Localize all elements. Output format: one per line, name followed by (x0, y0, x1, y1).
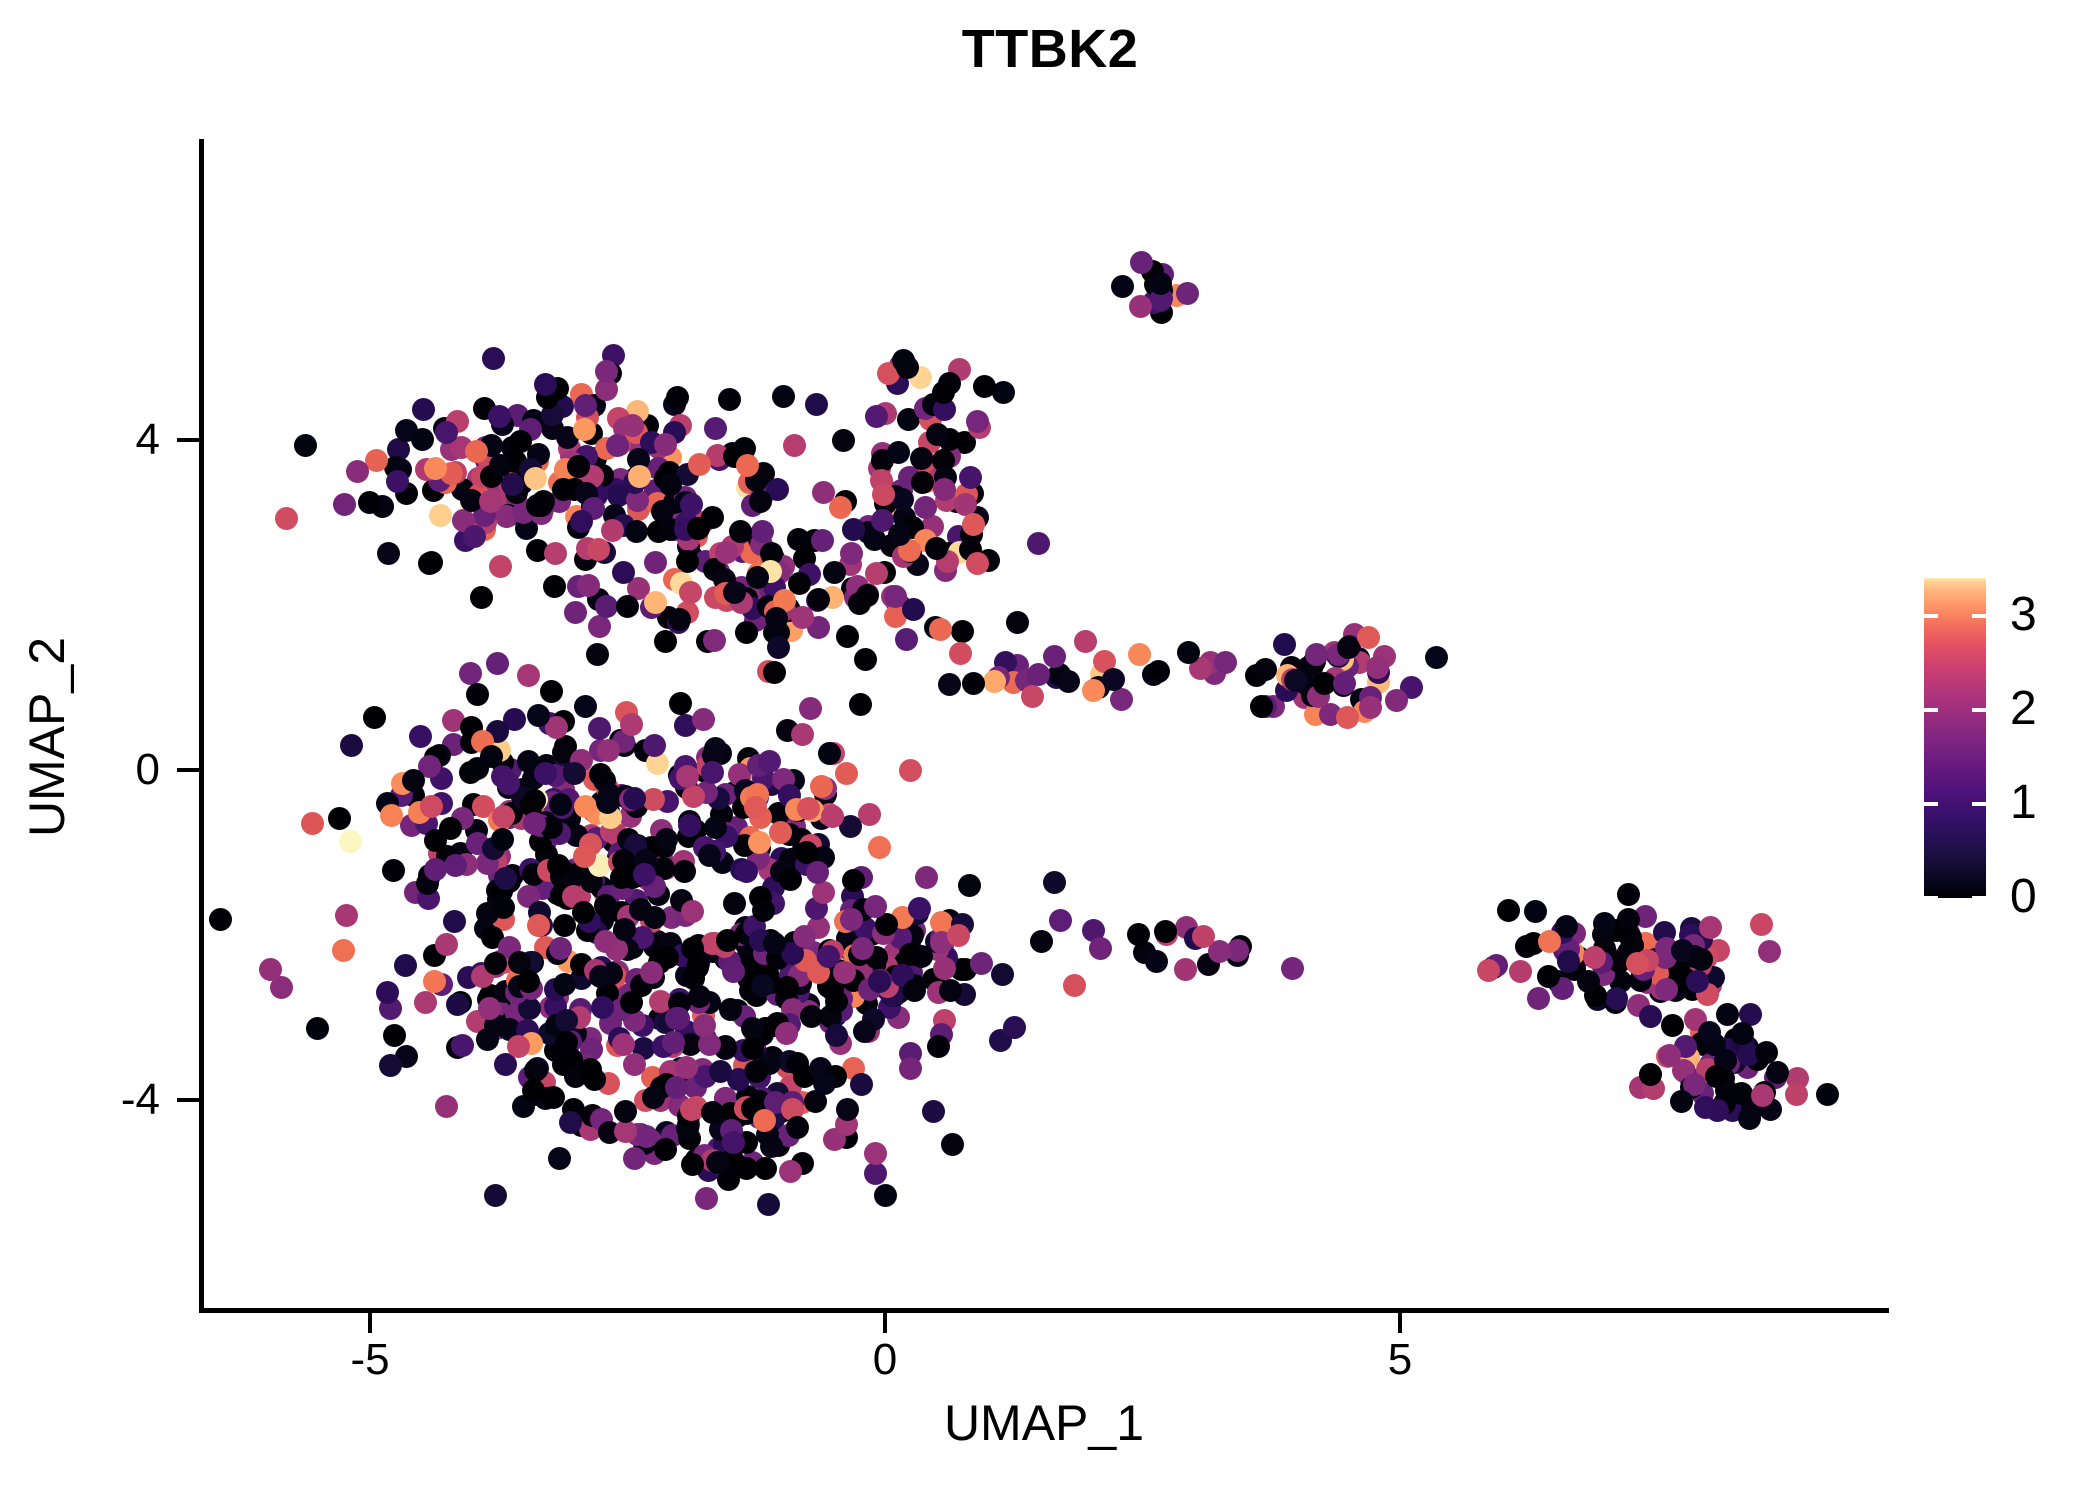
scatter-point (585, 921, 608, 944)
scatter-point (681, 900, 704, 923)
scatter-point (574, 795, 597, 818)
scatter-point (570, 1114, 593, 1137)
scatter-point (1649, 980, 1672, 1003)
scatter-point (654, 630, 677, 653)
scatter-point (613, 918, 636, 941)
scatter-point (1705, 1065, 1728, 1088)
scatter-point (687, 991, 710, 1014)
scatter-point (621, 414, 644, 437)
scatter-point (1629, 1076, 1652, 1099)
scatter-point (744, 1060, 767, 1083)
scatter-point (1324, 667, 1347, 690)
scatter-point (1245, 664, 1268, 687)
scatter-point (770, 847, 793, 870)
scatter-point (777, 597, 800, 620)
scatter-point (588, 854, 611, 877)
scatter-point (620, 713, 643, 736)
scatter-point (1758, 940, 1781, 963)
scatter-point (580, 1038, 603, 1061)
scatter-point (704, 417, 727, 440)
scatter-point (910, 447, 933, 470)
scatter-point (504, 450, 527, 473)
scatter-point (1671, 939, 1694, 962)
scatter-point (738, 471, 761, 494)
scatter-point (839, 553, 862, 576)
scatter-point (667, 510, 690, 533)
scatter-point (569, 861, 592, 884)
scatter-point (560, 444, 583, 467)
scatter-point (663, 568, 686, 591)
scatter-point (451, 478, 474, 501)
scatter-point (589, 965, 612, 988)
scatter-point (703, 840, 726, 863)
scatter-point (627, 577, 650, 600)
scatter-point (563, 478, 586, 501)
scatter-point (693, 1014, 716, 1037)
scatter-point (1150, 279, 1173, 302)
scatter-point (799, 697, 822, 720)
scatter-point (541, 791, 564, 814)
scatter-point (725, 582, 748, 605)
scatter-point (574, 394, 597, 417)
scatter-point (541, 417, 564, 440)
scatter-point (617, 834, 640, 857)
scatter-point (554, 458, 577, 481)
scatter-point (565, 824, 588, 847)
scatter-point (695, 1187, 718, 1210)
scatter-point (640, 431, 663, 454)
scatter-point (735, 1157, 758, 1180)
scatter-point (534, 1087, 557, 1110)
scatter-point (1759, 1098, 1782, 1121)
scatter-point (785, 798, 808, 821)
scatter-point (623, 1147, 646, 1170)
scatter-point (588, 615, 611, 638)
scatter-point (938, 372, 961, 395)
scatter-point (718, 950, 741, 973)
scatter-point (962, 672, 985, 695)
scatter-point (510, 472, 533, 495)
scatter-point (552, 741, 575, 764)
scatter-point (599, 806, 622, 829)
scatter-point (1367, 661, 1390, 684)
scatter-point (676, 463, 699, 486)
scatter-point (488, 864, 511, 887)
scatter-point (734, 779, 757, 802)
scatter-point (553, 973, 576, 996)
scatter-point (677, 1113, 700, 1136)
y-tick-mark (177, 1098, 199, 1102)
scatter-point (1657, 952, 1680, 975)
scatter-point (756, 1102, 779, 1125)
scatter-point (521, 951, 544, 974)
scatter-point (670, 889, 693, 912)
scatter-point (544, 1039, 567, 1062)
scatter-point (553, 744, 576, 767)
scatter-point (927, 981, 950, 1004)
scatter-point (386, 470, 409, 493)
scatter-point (474, 436, 497, 459)
scatter-point (791, 723, 814, 746)
scatter-point (744, 609, 767, 632)
scatter-point (747, 847, 770, 870)
scatter-point (519, 458, 542, 481)
scatter-point (892, 349, 915, 372)
scatter-point (749, 886, 772, 909)
scatter-point (550, 818, 573, 841)
scatter-point (735, 1102, 758, 1125)
scatter-point (1250, 695, 1273, 718)
scatter-point (889, 354, 912, 377)
scatter-point (672, 850, 695, 873)
scatter-point (583, 1068, 606, 1091)
scatter-point (668, 764, 691, 787)
scatter-point (737, 747, 760, 770)
scatter-point (617, 905, 640, 928)
scatter-point (589, 739, 612, 762)
scatter-point (1690, 1021, 1713, 1044)
scatter-point (832, 429, 855, 452)
scatter-point (788, 964, 811, 987)
scatter-point (573, 845, 596, 868)
scatter-point (709, 542, 732, 565)
scatter-point (817, 975, 840, 998)
scatter-point (594, 884, 617, 907)
scatter-point (856, 583, 879, 606)
scatter-point (1617, 921, 1640, 944)
scatter-point (552, 860, 575, 883)
scatter-point (436, 845, 459, 868)
scatter-point (529, 798, 552, 821)
scatter-point (484, 1184, 507, 1207)
scatter-point (522, 409, 545, 432)
scatter-point (1654, 946, 1677, 969)
scatter-point (782, 947, 805, 970)
scatter-point (667, 611, 690, 634)
scatter-point (488, 739, 511, 762)
scatter-point (807, 588, 830, 611)
scatter-point (522, 767, 545, 790)
scatter-point (416, 872, 439, 895)
scatter-point (776, 1056, 799, 1079)
scatter-point (663, 518, 686, 541)
scatter-point (591, 909, 614, 932)
scatter-point (674, 755, 697, 778)
scatter-point (301, 812, 324, 835)
scatter-point (470, 586, 493, 609)
scatter-point (1682, 934, 1705, 957)
scatter-point (657, 606, 680, 629)
scatter-point (812, 481, 835, 504)
scatter-point (726, 1105, 749, 1128)
scatter-point (541, 403, 564, 426)
scatter-point (599, 1012, 622, 1035)
scatter-point (501, 473, 524, 496)
scatter-point (460, 489, 483, 512)
scatter-point (546, 986, 569, 1009)
scatter-point (1366, 656, 1389, 679)
scatter-point (600, 820, 623, 843)
scatter-point (595, 595, 618, 618)
scatter-point (779, 868, 802, 891)
scatter-point (927, 1035, 950, 1058)
scatter-point (501, 436, 524, 459)
scatter-point (629, 1123, 652, 1146)
scatter-point (418, 864, 441, 887)
scatter-point (1617, 883, 1640, 906)
scatter-point (655, 1073, 678, 1096)
scatter-point (333, 493, 356, 516)
scatter-point (723, 581, 746, 604)
scatter-point (892, 545, 915, 568)
scatter-point (839, 815, 862, 838)
scatter-point (594, 930, 617, 953)
scatter-point (395, 419, 418, 442)
scatter-point (494, 867, 517, 890)
scatter-point (534, 762, 557, 785)
scatter-point (1630, 957, 1653, 980)
scatter-point (576, 537, 599, 560)
scatter-point (459, 662, 482, 685)
scatter-point (473, 518, 496, 541)
scatter-point (746, 786, 769, 809)
scatter-point (606, 1034, 629, 1057)
scatter-point (478, 848, 501, 871)
scatter-point (543, 575, 566, 598)
scatter-point (730, 858, 753, 881)
scatter-point (482, 347, 505, 370)
scatter-point (455, 853, 478, 876)
scatter-point (702, 744, 725, 767)
scatter-point (471, 965, 494, 988)
scatter-point (612, 1033, 635, 1056)
scatter-point (1681, 978, 1704, 1001)
scatter-point (772, 555, 795, 578)
scatter-point (440, 438, 463, 461)
scatter-point (766, 983, 789, 1006)
scatter-point (1003, 1016, 1026, 1039)
scatter-point (987, 666, 1010, 689)
scatter-point (1319, 703, 1342, 726)
scatter-point (564, 1065, 587, 1088)
scatter-point (548, 822, 571, 845)
scatter-point (451, 1034, 474, 1057)
scatter-point (665, 1007, 688, 1030)
scatter-point (901, 516, 924, 539)
scatter-point (739, 826, 762, 849)
scatter-point (435, 1095, 458, 1118)
scatter-point (490, 458, 513, 481)
scatter-point (1297, 679, 1320, 702)
scatter-point (797, 993, 820, 1016)
scatter-point (646, 492, 669, 515)
scatter-point (626, 1123, 649, 1146)
scatter-point (548, 471, 571, 494)
scatter-point (748, 1106, 771, 1129)
scatter-point (1724, 1028, 1747, 1051)
scatter-point (762, 547, 785, 570)
scatter-point (1336, 655, 1359, 678)
scatter-point (596, 777, 619, 800)
scatter-point (880, 534, 903, 557)
scatter-point (864, 1162, 887, 1185)
scatter-point (430, 973, 453, 996)
scatter-point (335, 904, 358, 927)
scatter-point (1634, 932, 1657, 955)
scatter-point (650, 847, 673, 870)
scatter-point (639, 1129, 662, 1152)
scatter-point (901, 924, 924, 947)
scatter-point (711, 851, 734, 874)
scatter-point (1672, 1059, 1695, 1082)
scatter-point (515, 517, 538, 540)
scatter-point (925, 537, 948, 560)
scatter-point (646, 752, 669, 775)
scatter-point (1226, 939, 1249, 962)
scatter-point (642, 788, 665, 811)
scatter-point (668, 608, 691, 631)
scatter-point (492, 951, 515, 974)
scatter-point (770, 860, 793, 883)
scatter-point (602, 830, 625, 853)
scatter-point (698, 1033, 721, 1056)
scatter-point (581, 465, 604, 488)
scatter-point (715, 541, 738, 564)
scatter-point (507, 1035, 530, 1058)
scatter-point (540, 816, 563, 839)
scatter-point (1049, 909, 1072, 932)
scatter-point (730, 591, 753, 614)
scatter-point (1203, 662, 1226, 685)
scatter-point (1002, 671, 1025, 694)
scatter-point (922, 1100, 945, 1123)
scatter-point (872, 483, 895, 506)
scatter-point (549, 793, 572, 816)
scatter-point (428, 469, 451, 492)
scatter-point (939, 979, 962, 1002)
scatter-point (492, 1000, 515, 1023)
scatter-point (791, 606, 814, 629)
scatter-point (745, 984, 768, 1007)
x-tick-label: 0 (785, 1338, 985, 1382)
scatter-point (663, 393, 686, 416)
scatter-point (424, 746, 447, 769)
scatter-point (874, 1184, 897, 1207)
scatter-point (512, 501, 535, 524)
scatter-point (735, 922, 758, 945)
scatter-point (885, 590, 908, 613)
scatter-point (821, 805, 844, 828)
scatter-point (623, 787, 646, 810)
scatter-point (707, 787, 730, 810)
scatter-point (602, 976, 625, 999)
scatter-point (466, 757, 489, 780)
scatter-point (654, 1011, 677, 1034)
scatter-point (492, 908, 515, 931)
scatter-point (732, 1039, 755, 1062)
scatter-point (756, 1123, 779, 1146)
scatter-point (1110, 688, 1133, 711)
scatter-point (951, 620, 974, 643)
scatter-point (590, 1108, 613, 1131)
scatter-point (674, 714, 697, 737)
scatter-point (829, 1032, 852, 1055)
scatter-point (528, 901, 551, 924)
scatter-point (539, 996, 562, 1019)
scatter-point (1063, 974, 1086, 997)
scatter-point (764, 1014, 787, 1037)
scatter-point (591, 464, 614, 487)
scatter-point (562, 1098, 585, 1121)
scatter-point (451, 807, 474, 830)
scatter-point (876, 975, 899, 998)
scatter-point (1151, 263, 1174, 286)
scatter-point (379, 1054, 402, 1077)
scatter-point (922, 393, 945, 416)
scatter-point (1299, 662, 1322, 685)
scatter-point (485, 1017, 508, 1040)
scatter-point (1583, 946, 1606, 969)
scatter-point (498, 1018, 521, 1041)
scatter-point (679, 1033, 702, 1056)
scatter-point (547, 854, 570, 877)
scatter-point (606, 960, 629, 983)
scatter-point (871, 509, 894, 532)
scatter-point (616, 595, 639, 618)
scatter-point (489, 555, 512, 578)
scatter-point (626, 489, 649, 512)
scatter-point (994, 651, 1017, 674)
scatter-point (492, 805, 515, 828)
scatter-point (1338, 635, 1361, 658)
scatter-point (572, 459, 595, 482)
scatter-point (634, 1089, 657, 1112)
scatter-point (435, 933, 458, 956)
scatter-point (899, 1057, 922, 1080)
scatter-point (779, 963, 802, 986)
scatter-point (1327, 645, 1350, 668)
scatter-point (715, 589, 738, 612)
scatter-point (961, 482, 984, 505)
scatter-point (632, 1037, 655, 1060)
scatter-point (1343, 623, 1366, 646)
colorbar-tick-mark (1924, 708, 1938, 712)
scatter-point (868, 970, 891, 993)
scatter-point (558, 807, 581, 830)
scatter-point (1690, 948, 1713, 971)
scatter-point (509, 430, 532, 453)
scatter-point (687, 934, 710, 957)
scatter-point (733, 834, 756, 857)
scatter-point (491, 765, 514, 788)
scatter-point (759, 552, 782, 575)
scatter-point (1303, 674, 1326, 697)
scatter-point (499, 758, 522, 781)
scatter-point (858, 978, 881, 1001)
scatter-point (565, 505, 588, 528)
scatter-point (682, 785, 705, 808)
scatter-point (681, 937, 704, 960)
scatter-point (586, 461, 609, 484)
scatter-point (1127, 923, 1150, 946)
scatter-point (722, 960, 745, 983)
scatter-point (734, 1097, 757, 1120)
scatter-point (1043, 871, 1066, 894)
scatter-point (929, 618, 952, 641)
scatter-point (744, 1040, 767, 1063)
scatter-point (786, 1052, 809, 1075)
scatter-point (786, 846, 809, 869)
